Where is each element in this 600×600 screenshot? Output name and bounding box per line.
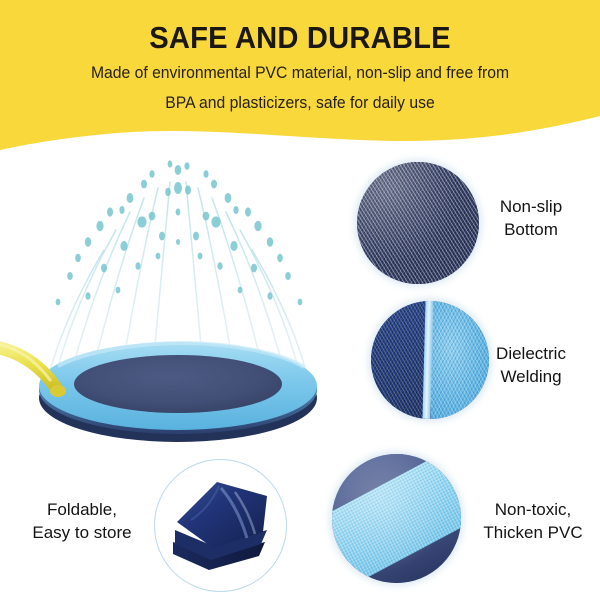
feature-label-line2: Bottom	[466, 219, 596, 242]
folded-mat-illustration	[155, 460, 283, 588]
feature-label-line1: Dielectric	[466, 343, 596, 366]
feature-label-foldable: Foldable, Easy to store	[8, 499, 156, 544]
garden-hose	[0, 346, 56, 388]
header-subtitle-line2: BPA and plasticizers, safe for daily use	[9, 85, 591, 115]
header-subtitle-line1: Made of environmental PVC material, non-…	[9, 55, 591, 85]
sheen-overlay	[357, 162, 479, 284]
feature-swatch-non-slip-bottom	[357, 162, 479, 284]
feature-label-line1: Foldable,	[8, 499, 156, 522]
feature-label-line2: Thicken PVC	[466, 522, 600, 545]
feature-label-line1: Non-toxic,	[466, 499, 600, 522]
page-title: SAFE AND DURABLE	[18, 0, 582, 55]
water-droplets	[56, 160, 303, 305]
welding-dark-half	[371, 301, 426, 419]
hose-connector	[50, 385, 66, 397]
sprinkler-pad-illustration	[0, 150, 364, 450]
feature-swatch-non-toxic-thicken-pvc	[332, 454, 461, 583]
sprinkler-pad-image	[0, 150, 364, 450]
feature-label-non-toxic-thicken-pvc: Non-toxic, Thicken PVC	[466, 499, 600, 544]
feature-label-line2: Welding	[466, 366, 596, 389]
pad-center	[74, 355, 282, 413]
sheen-overlay	[332, 454, 461, 583]
feature-swatch-foldable	[154, 459, 287, 592]
feature-label-line2: Easy to store	[8, 522, 156, 545]
header-banner: SAFE AND DURABLE Made of environmental P…	[0, 0, 600, 152]
product-infographic: SAFE AND DURABLE Made of environmental P…	[0, 0, 600, 600]
feature-label-dielectric-welding: Dielectric Welding	[466, 343, 596, 388]
feature-label-line1: Non-slip	[466, 196, 596, 219]
feature-label-non-slip-bottom: Non-slip Bottom	[466, 196, 596, 241]
